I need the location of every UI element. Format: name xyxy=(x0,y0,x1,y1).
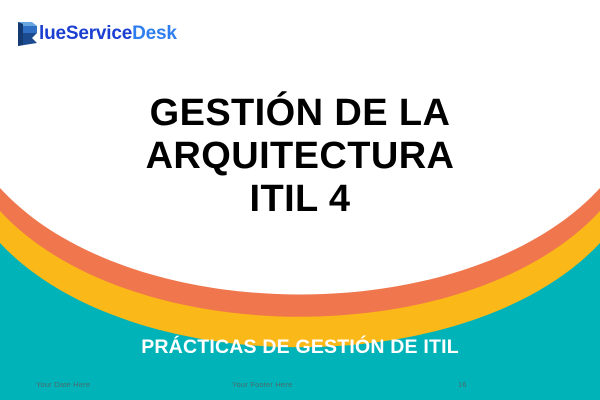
footer-page-number: 16 xyxy=(458,378,467,392)
slide-title-line-1: GESTIÓN DE LA xyxy=(0,92,600,135)
brand-logo[interactable]: lueServiceDesk xyxy=(18,20,177,48)
slide-title-line-3: ITIL 4 xyxy=(0,178,600,221)
footer-note: Your Footer Here xyxy=(232,378,292,392)
brand-logo-word-primary: lueService xyxy=(39,23,132,44)
slide-title-line-2: ARQUITECTURA xyxy=(0,135,600,178)
slide-footer: Your Date Here Your Footer Here 16 xyxy=(0,378,600,394)
slide-canvas: lueServiceDesk GESTIÓN DE LA ARQUITECTUR… xyxy=(0,0,600,400)
brand-logo-text: lueServiceDesk xyxy=(39,21,177,47)
blueservicedesk-b-mark-icon xyxy=(18,21,38,47)
slide-title: GESTIÓN DE LA ARQUITECTURA ITIL 4 xyxy=(0,92,600,221)
footer-date: Your Date Here xyxy=(36,378,90,392)
section-banner-text: PRÁCTICAS DE GESTIÓN DE ITIL xyxy=(141,336,459,358)
brand-logo-word-secondary: Desk xyxy=(132,23,177,44)
section-banner: PRÁCTICAS DE GESTIÓN DE ITIL xyxy=(0,336,600,359)
